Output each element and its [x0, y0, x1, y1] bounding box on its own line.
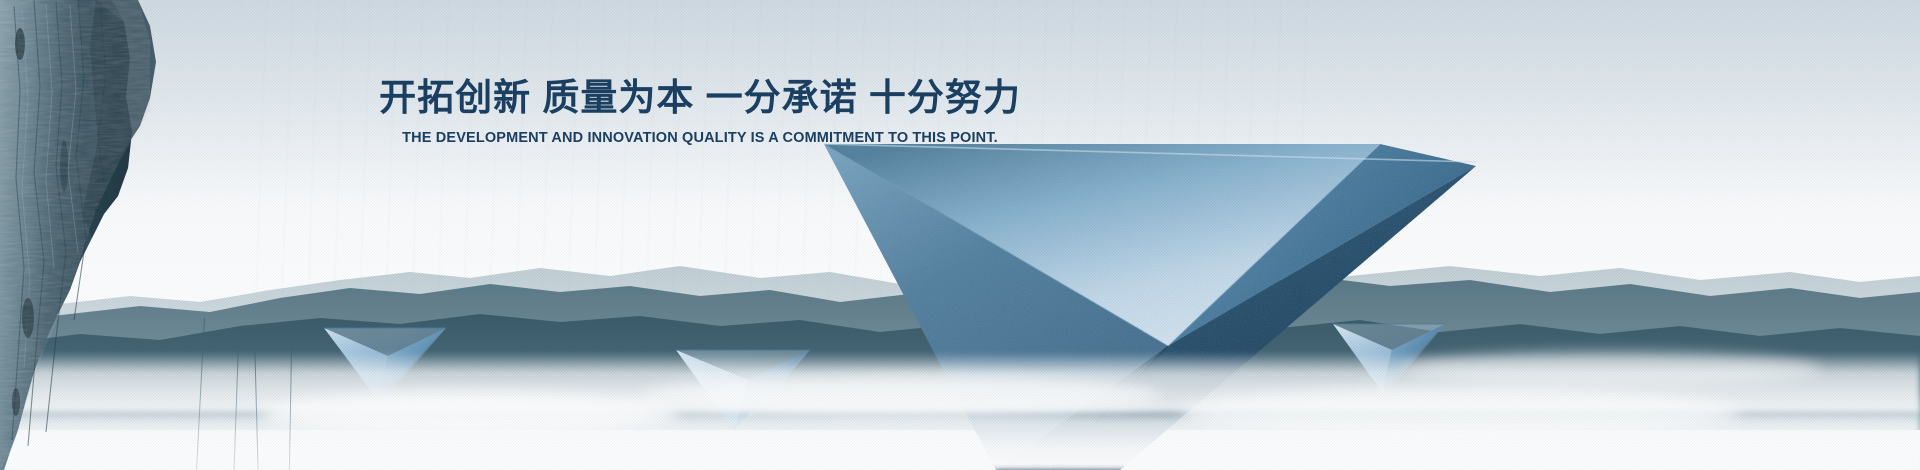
- banner-subheadline: THE DEVELOPMENT AND INNOVATION QUALITY I…: [0, 130, 1400, 146]
- mist-wisp: [260, 392, 680, 436]
- banner-text-block: 开拓创新 质量为本 一分承诺 十分努力 THE DEVELOPMENT AND …: [0, 76, 1400, 146]
- mist-wisp: [1180, 388, 1740, 438]
- mist-wisp: [1400, 352, 1820, 386]
- hero-banner: 开拓创新 质量为本 一分承诺 十分努力 THE DEVELOPMENT AND …: [0, 0, 1920, 470]
- mist-wisp: [640, 376, 1160, 416]
- rock-cliff: [0, 0, 210, 470]
- banner-headline: 开拓创新 质量为本 一分承诺 十分努力: [0, 76, 1400, 120]
